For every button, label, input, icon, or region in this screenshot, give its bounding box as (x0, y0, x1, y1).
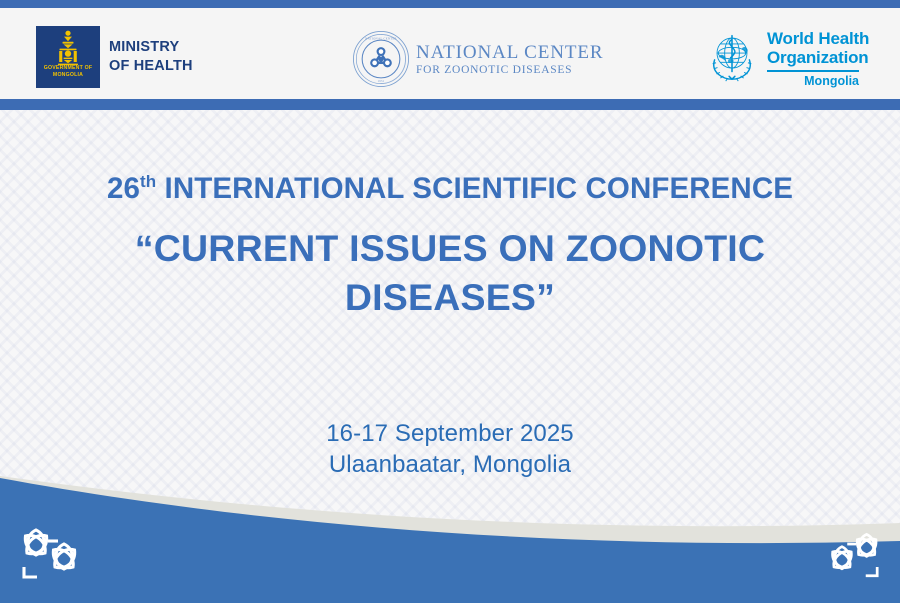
event-details: 16-17 September 2025 Ulaanbaatar, Mongol… (0, 418, 900, 480)
conference-subtitle: INTERNATIONAL SCIENTIFIC CONFERENCE (156, 172, 793, 205)
top-accent-band (0, 0, 900, 8)
conference-title-slide: GOVERNMENT OF MONGOLIA MINISTRY OF HEALT… (0, 0, 900, 603)
conference-theme: “CURRENT ISSUES ON ZOONOTIC DISEASES” (0, 224, 900, 322)
soyombo-svg (53, 30, 83, 68)
national-center-name: NATIONAL CENTER FOR ZOONOTIC DISEASES (416, 42, 603, 77)
who-divider (767, 70, 859, 72)
biohazard-seal-icon: NATIONAL CENTER 1931 (352, 30, 410, 88)
who-name: World Health Organization Mongolia (767, 27, 869, 88)
who-logo: World Health Organization Mongolia (703, 27, 869, 88)
who-emblem-icon (703, 27, 761, 85)
emblem-caption: GOVERNMENT OF MONGOLIA (36, 65, 100, 79)
conference-ordinal-line: 26th INTERNATIONAL SCIENTIFIC CONFERENCE (0, 172, 900, 206)
who-name-line1: World Health (767, 29, 869, 48)
national-center-logo: NATIONAL CENTER 1931 NATIONAL CENTER FOR… (352, 30, 603, 88)
logo-header: GOVERNMENT OF MONGOLIA MINISTRY OF HEALT… (0, 8, 900, 99)
ministry-name-line2: OF HEALTH (109, 57, 193, 76)
mongolian-knot-ornament-right (812, 528, 886, 583)
ministry-name: MINISTRY OF HEALTH (109, 38, 193, 76)
svg-text:1931: 1931 (378, 80, 385, 83)
event-location: Ulaanbaatar, Mongolia (0, 449, 900, 480)
slide-body: 26th INTERNATIONAL SCIENTIFIC CONFERENCE… (0, 110, 900, 603)
who-country: Mongolia (767, 74, 859, 88)
header-divider-band (0, 99, 900, 110)
title-block: 26th INTERNATIONAL SCIENTIFIC CONFERENCE… (0, 172, 900, 322)
soyombo-emblem-icon: GOVERNMENT OF MONGOLIA (36, 26, 100, 88)
conference-ordinal: 26 (107, 172, 140, 205)
conference-theme-line1: “CURRENT ISSUES ON ZOONOTIC (0, 224, 900, 273)
national-center-name-line1: NATIONAL CENTER (416, 42, 603, 63)
national-center-name-line2: FOR ZOONOTIC DISEASES (416, 63, 603, 77)
event-date: 16-17 September 2025 (0, 418, 900, 449)
svg-text:NATIONAL CENTER: NATIONAL CENTER (365, 37, 397, 41)
ministry-name-line1: MINISTRY (109, 38, 193, 57)
conference-ordinal-suffix: th (140, 172, 156, 191)
conference-theme-line2: DISEASES” (0, 273, 900, 322)
emblem-caption-line1: GOVERNMENT OF (36, 65, 100, 72)
who-name-line2: Organization (767, 48, 869, 67)
emblem-caption-line2: MONGOLIA (36, 72, 100, 79)
ministry-of-health-logo: GOVERNMENT OF MONGOLIA MINISTRY OF HEALT… (36, 26, 193, 88)
soyombo-glyph (36, 30, 100, 68)
mongolian-knot-ornament-left (14, 523, 98, 585)
